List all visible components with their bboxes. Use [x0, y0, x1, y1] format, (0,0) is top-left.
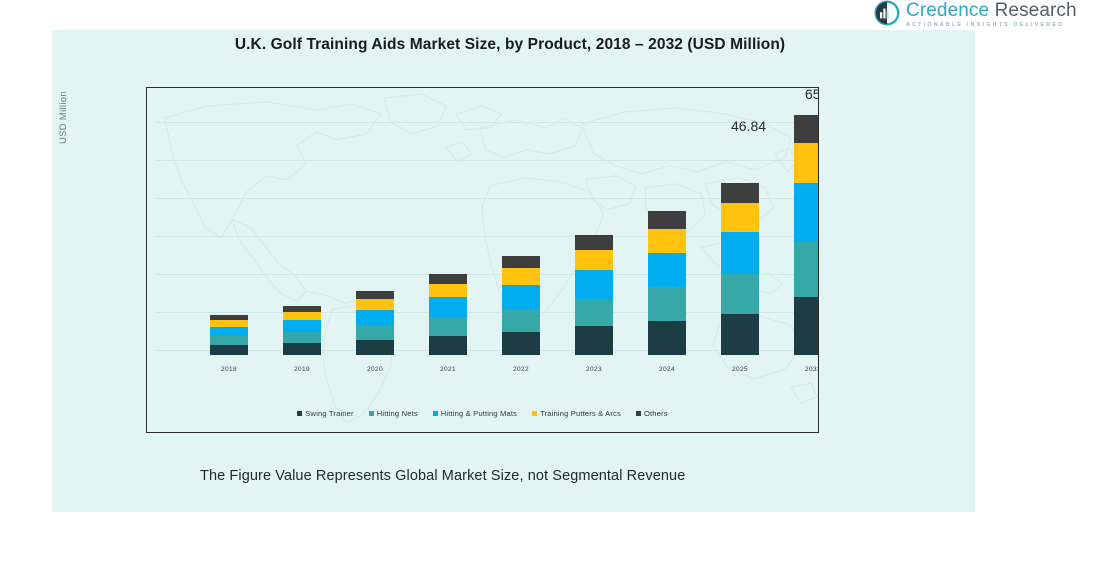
bar-segment-2024-s2: [648, 253, 686, 288]
bar-segment-2032-s2: [794, 183, 819, 242]
legend-label: Swing Trainer: [305, 409, 353, 418]
bar-segment-2018-s0: [210, 345, 248, 355]
bar-segment-2022-s1: [502, 309, 540, 332]
bar-segment-2024-s1: [648, 287, 686, 320]
bar-segment-2025-s3: [721, 203, 759, 232]
bar-segment-2023-s2: [575, 270, 613, 299]
legend-item-3[interactable]: Training Putters & Arcs: [532, 409, 621, 418]
bar-column-2020: [356, 291, 394, 355]
bar-segment-2021-s4: [429, 274, 467, 284]
bar-segment-2020-s3: [356, 299, 394, 310]
bar-segment-2023-s4: [575, 235, 613, 250]
bar-segment-2019-s2: [283, 320, 321, 332]
x-axis-label-2023: 2023: [567, 366, 621, 373]
legend-item-2[interactable]: Hitting & Putting Mats: [433, 409, 517, 418]
brand-name-part2: Research: [995, 0, 1077, 21]
legend-item-0[interactable]: Swing Trainer: [297, 409, 353, 418]
x-axis-label-2020: 2020: [348, 366, 402, 373]
bar-segment-2022-s4: [502, 256, 540, 268]
bars-plot-area: 201820192020202120222023202420252032: [147, 88, 818, 432]
bar-segment-2018-s3: [210, 320, 248, 327]
brand-name: Credence Research: [906, 1, 1077, 20]
x-axis-label-2032: 2032: [786, 366, 819, 373]
legend-swatch-icon: [369, 411, 374, 416]
bar-column-2018: [210, 315, 248, 355]
bar-segment-2021-s1: [429, 317, 467, 336]
bar-segment-2023-s3: [575, 250, 613, 270]
y-axis-label: USD Million: [58, 91, 69, 144]
legend-swatch-icon: [532, 411, 537, 416]
bar-segment-2024-s4: [648, 211, 686, 229]
bar-segment-2018-s2: [210, 327, 248, 337]
legend-swatch-icon: [297, 411, 302, 416]
bar-segment-2022-s2: [502, 285, 540, 309]
bar-column-2024: [648, 211, 686, 355]
bar-column-2025: [721, 183, 759, 355]
bar-segment-2021-s2: [429, 297, 467, 316]
bar-segment-2019-s1: [283, 332, 321, 343]
x-axis-label-2024: 2024: [640, 366, 694, 373]
bar-column-2022: [502, 256, 540, 355]
brand-logo: Credence Research Actionable Insights De…: [874, 0, 1074, 30]
bar-segment-2025-s0: [721, 314, 759, 355]
bar-segment-2021-s0: [429, 336, 467, 355]
brand-text: Credence Research Actionable Insights De…: [906, 0, 1077, 28]
bar-segment-2022-s0: [502, 332, 540, 355]
bar-segment-2032-s3: [794, 143, 819, 183]
legend-item-1[interactable]: Hitting Nets: [369, 409, 418, 418]
bar-segment-2019-s3: [283, 312, 321, 320]
legend-label: Hitting Nets: [377, 409, 418, 418]
chart-footnote: The Figure Value Represents Global Marke…: [200, 468, 685, 484]
bar-segment-2032-s1: [794, 242, 819, 297]
bar-segment-2021-s3: [429, 284, 467, 298]
bar-column-2032: [794, 115, 819, 355]
chart-legend: Swing TrainerHitting NetsHitting & Putti…: [147, 409, 818, 418]
bar-segment-2022-s3: [502, 268, 540, 285]
bar-segment-2025-s2: [721, 232, 759, 274]
bar-chart-circle-icon: [874, 0, 900, 26]
bar-segment-2018-s1: [210, 336, 248, 345]
bar-segment-2023-s1: [575, 299, 613, 327]
bar-segment-2020-s2: [356, 310, 394, 325]
bar-segment-2032-s0: [794, 297, 819, 355]
bar-segment-2032-s4: [794, 115, 819, 143]
bar-segment-2024-s0: [648, 321, 686, 356]
legend-label: Others: [644, 409, 668, 418]
bar-segment-2020-s4: [356, 291, 394, 299]
x-axis-label-2021: 2021: [421, 366, 475, 373]
bar-segment-2024-s3: [648, 229, 686, 253]
x-axis-label-2025: 2025: [713, 366, 767, 373]
bar-column-2019: [283, 306, 321, 355]
legend-label: Training Putters & Arcs: [540, 409, 621, 418]
bar-segment-2020-s1: [356, 325, 394, 340]
bar-column-2021: [429, 274, 467, 355]
legend-swatch-icon: [433, 411, 438, 416]
legend-label: Hitting & Putting Mats: [441, 409, 517, 418]
legend-swatch-icon: [636, 411, 641, 416]
chart-plot-frame: 46.84 65.44 2018201920202021202220232024…: [146, 87, 819, 433]
x-axis-label-2022: 2022: [494, 366, 548, 373]
bar-segment-2019-s0: [283, 343, 321, 355]
brand-tagline: Actionable Insights Delivered: [906, 22, 1077, 28]
legend-item-4[interactable]: Others: [636, 409, 668, 418]
bar-segment-2025-s4: [721, 183, 759, 204]
bar-segment-2020-s0: [356, 340, 394, 355]
bar-segment-2025-s1: [721, 274, 759, 314]
bar-column-2023: [575, 235, 613, 355]
bar-segment-2023-s0: [575, 326, 613, 355]
x-axis-label-2019: 2019: [275, 366, 329, 373]
x-axis-label-2018: 2018: [202, 366, 256, 373]
chart-title: U.K. Golf Training Aids Market Size, by …: [160, 36, 860, 54]
brand-name-part1: Credence: [906, 0, 989, 21]
